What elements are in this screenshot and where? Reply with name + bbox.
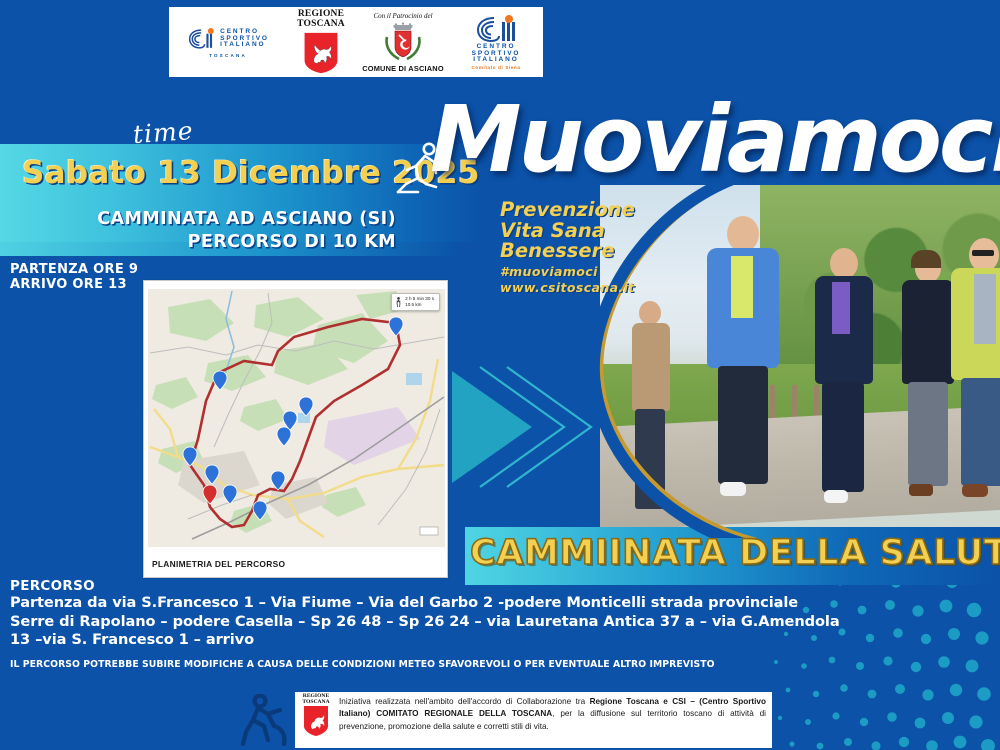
tagline-line-2: Vita Sana — [500, 221, 635, 242]
regione-line-2: TOSCANA — [297, 20, 345, 30]
walker-figure-woman-yellow — [948, 238, 1000, 516]
route-disclaimer: IL PERCORSO POTREBBE SUBIRE MODIFICHE A … — [10, 659, 715, 670]
csi-toscana-wordmark: CENTRO SPORTIVO ITALIANO — [220, 29, 269, 49]
tagline-line-1: Prevenzione — [500, 200, 635, 221]
comune-name-label: COMUNE DI ASCIANO — [362, 64, 444, 73]
campaign-hashtag: #muoviamoci — [500, 265, 635, 278]
campaign-website[interactable]: www.csitoscana.it — [500, 281, 635, 294]
logo-csi-toscana: CENTRO SPORTIVO ITALIANO TOSCANA — [169, 7, 287, 77]
csi-siena-swirl-icon — [474, 14, 518, 44]
logo-regione-toscana: REGIONE TOSCANA — [287, 7, 355, 77]
schedule-end: ARRIVO ORE 13 — [10, 277, 138, 292]
footer-credit-text: Iniziativa realizzata nell'ambito dell'a… — [337, 692, 772, 748]
csi-siena-sub: Comitato di Siena — [472, 65, 521, 70]
schedule-start: PARTENZA ORE 9 — [10, 262, 138, 277]
map-caption: PLANIMETRIA DEL PERCORSO — [152, 559, 285, 569]
logo-comune-asciano: Con il Patrocinio del COMUNE DI ASCIANO — [355, 7, 451, 77]
campaign-tagline: Prevenzione Vita Sana Benessere #muoviam… — [500, 200, 635, 294]
csi-toscana-sub: TOSCANA — [209, 53, 247, 58]
logo-csi-siena: CENTRO SPORTIVO ITALIANO Comitato di Sie… — [451, 7, 541, 77]
walker-figure-woman-navy — [808, 248, 880, 516]
pedestrian-icon — [395, 297, 402, 308]
csi-line-3: ITALIANO — [220, 42, 269, 49]
map-canvas[interactable]: 2 h 5 min 30 s 10.5 km — [148, 289, 445, 547]
schedule-times: PARTENZA ORE 9 ARRIVO ORE 13 — [10, 262, 138, 293]
map-info-box: 2 h 5 min 30 s 10.5 km — [391, 293, 440, 311]
csi-swirl-icon — [187, 26, 217, 52]
map-graphics — [148, 289, 445, 547]
event-subtitle-location: CAMMINATA AD ASCIANO (SI) — [97, 209, 396, 229]
route-label: PERCORSO — [10, 578, 95, 594]
footer-regione-logo: REGIONE TOSCANA — [295, 692, 337, 748]
csi-toscana-mark: CENTRO SPORTIVO ITALIANO — [187, 26, 269, 52]
nordic-walking-icon — [240, 694, 298, 746]
poster-root: CENTRO SPORTIVO ITALIANO TOSCANA REGIONE… — [0, 0, 1000, 750]
salute-banner-title: CAMMIINATA DELLA SALUTE — [470, 533, 1000, 573]
patronage-label: Con il Patrocinio del — [373, 12, 432, 20]
map-info-text: 2 h 5 min 30 s 10.5 km — [405, 296, 434, 308]
logo-bar: CENTRO SPORTIVO ITALIANO TOSCANA REGIONE… — [167, 5, 545, 79]
map-info-distance: 10.5 km — [405, 302, 434, 308]
footer-text-part-1: Iniziativa realizzata nell'ambito dell'a… — [339, 697, 590, 706]
csi-siena-wordmark: CENTRO SPORTIVO ITALIANO — [472, 44, 521, 64]
muoviamoci-wordmark: Muoviamoci — [430, 96, 1000, 183]
regione-title: REGIONE TOSCANA — [297, 10, 345, 30]
route-description: Partenza da via S.Francesco 1 – Via Fium… — [10, 594, 840, 650]
tagline-line-3: Benessere — [500, 241, 635, 262]
chevron-arrows-decoration — [452, 345, 597, 515]
route-map[interactable]: 2 h 5 min 30 s 10.5 km PLANIMETRIA DEL P… — [143, 280, 448, 578]
csi-siena-line-3: ITALIANO — [472, 57, 521, 64]
footer-pegasus-shield-icon — [303, 705, 329, 737]
walker-figure-man-beige — [624, 301, 676, 516]
walker-figure-woman-blue — [700, 216, 790, 516]
event-subtitle-distance: PERCORSO DI 10 KM — [188, 232, 396, 252]
footer-credit-box: REGIONE TOSCANA Iniziativa realizzata ne… — [295, 692, 772, 748]
time-script-label: time — [132, 116, 194, 149]
comune-crest-icon — [381, 21, 425, 63]
walkers-photo — [600, 185, 1000, 530]
pegasus-shield-icon — [302, 32, 340, 74]
